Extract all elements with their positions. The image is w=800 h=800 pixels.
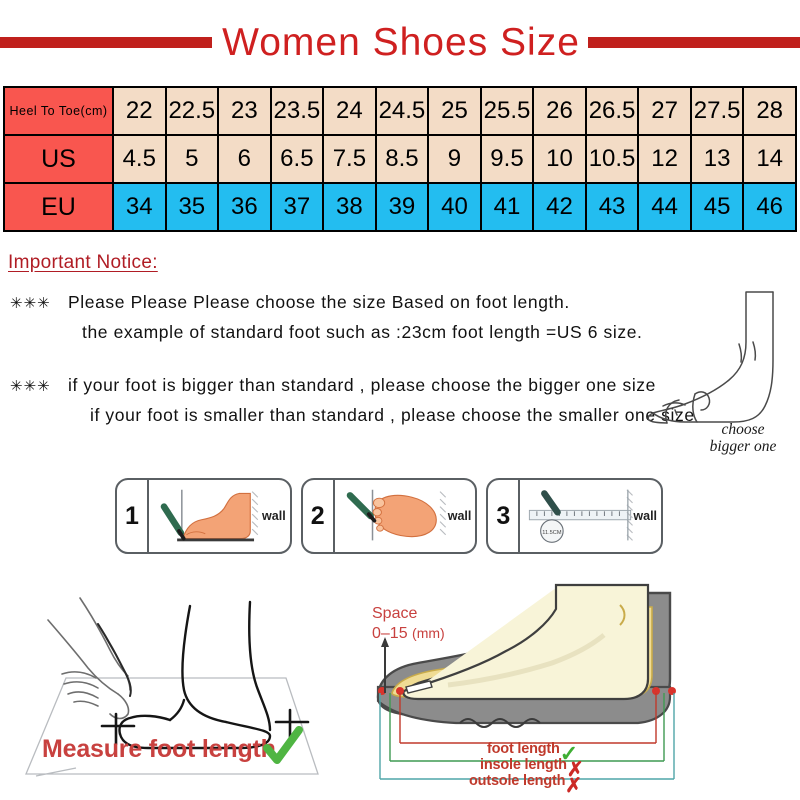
cell-eu-7: 41 <box>481 183 534 231</box>
space-unit: (mm) <box>412 625 445 641</box>
notice-row-1: ✳✳✳ Please Please Please choose the size… <box>10 292 643 313</box>
cell-eu-0: 34 <box>113 183 166 231</box>
title-rule-left <box>0 37 212 48</box>
notice-block-1: ✳✳✳ Please Please Please choose the size… <box>10 292 643 343</box>
step-number-1: 1 <box>117 480 149 552</box>
cell-cm-5: 24.5 <box>376 87 429 135</box>
page-title-bar: Women Shoes Size <box>0 18 800 66</box>
space-range: 0–15 <box>372 625 408 642</box>
dim-text-outsole: outsole length <box>469 773 565 789</box>
cell-eu-2: 36 <box>218 183 271 231</box>
choose-bigger-one-caption: choose bigger one <box>688 421 798 456</box>
asterisk-icon: ✳✳✳ <box>10 375 68 395</box>
row-label-us: US <box>4 135 113 183</box>
step-3-callout: 11.5CM <box>543 530 563 536</box>
wall-label-3: wall <box>633 509 657 523</box>
dimension-label-foot-length: foot length ✓ <box>487 741 560 757</box>
step-panel-1: 1 wall <box>115 478 292 554</box>
asterisk-icon: ✳✳✳ <box>10 292 68 312</box>
cell-eu-4: 38 <box>323 183 376 231</box>
cell-us-1: 5 <box>166 135 219 183</box>
cell-eu-9: 43 <box>586 183 639 231</box>
cell-us-12: 14 <box>743 135 796 183</box>
step-2-illustration: wall <box>335 480 476 552</box>
space-gap-label: Space 0–15 (mm) <box>372 604 445 644</box>
cell-cm-0: 22 <box>113 87 166 135</box>
notice-row-2: ✳✳✳ if your foot is bigger than standard… <box>10 375 695 396</box>
space-label-line-2: 0–15 (mm) <box>372 624 445 644</box>
cell-us-4: 7.5 <box>323 135 376 183</box>
notice-2-line-1: if your foot is bigger than standard , p… <box>68 375 656 396</box>
caption-line-1: choose <box>688 421 798 438</box>
cell-cm-3: 23.5 <box>271 87 324 135</box>
table-row-heel-to-toe: Heel To Toe(cm) 22 22.5 23 23.5 24 24.5 … <box>4 87 796 135</box>
cell-us-3: 6.5 <box>271 135 324 183</box>
cell-eu-6: 40 <box>428 183 481 231</box>
cell-cm-6: 25 <box>428 87 481 135</box>
cell-eu-11: 45 <box>691 183 744 231</box>
important-notice-heading: Important Notice: <box>8 252 158 274</box>
notice-1-line-2: the example of standard foot such as :23… <box>10 322 643 343</box>
green-check-icon <box>262 726 304 770</box>
dim-text-foot: foot length <box>487 741 560 757</box>
cell-us-6: 9 <box>428 135 481 183</box>
cell-us-9: 10.5 <box>586 135 639 183</box>
cell-eu-8: 42 <box>533 183 586 231</box>
step-3-illustration: 11.5CM wall <box>520 480 661 552</box>
cell-cm-9: 26.5 <box>586 87 639 135</box>
measure-foot-length-label: Measure foot length <box>42 735 276 764</box>
cell-cm-4: 24 <box>323 87 376 135</box>
step-panel-2: 2 wall <box>301 478 478 554</box>
cell-cm-12: 28 <box>743 87 796 135</box>
cross-icon: ✗ <box>565 773 582 798</box>
row-label-eu: EU <box>4 183 113 231</box>
cell-cm-11: 27.5 <box>691 87 744 135</box>
cell-us-7: 9.5 <box>481 135 534 183</box>
notice-block-2: ✳✳✳ if your foot is bigger than standard… <box>10 375 695 426</box>
cell-us-11: 13 <box>691 135 744 183</box>
measure-steps-panel: 1 wall 2 <box>115 478 663 554</box>
cell-us-5: 8.5 <box>376 135 429 183</box>
notice-2-line-2: if your foot is smaller than standard , … <box>10 405 695 426</box>
cell-eu-5: 39 <box>376 183 429 231</box>
wall-label-2: wall <box>448 509 472 523</box>
dimension-label-outsole-length: outsole length ✗ <box>469 773 565 789</box>
cell-us-2: 6 <box>218 135 271 183</box>
table-row-eu: EU 34 35 36 37 38 39 40 41 42 43 44 45 4… <box>4 183 796 231</box>
notice-1-line-1: Please Please Please choose the size Bas… <box>68 292 570 313</box>
dimension-label-insole-length: insole length ✗ <box>480 757 567 773</box>
cell-cm-10: 27 <box>638 87 691 135</box>
step-number-2: 2 <box>303 480 335 552</box>
size-chart-table: Heel To Toe(cm) 22 22.5 23 23.5 24 24.5 … <box>3 86 797 232</box>
dim-text-insole: insole length <box>480 757 567 773</box>
cell-us-8: 10 <box>533 135 586 183</box>
wall-label-1: wall <box>262 509 286 523</box>
page-title: Women Shoes Size <box>218 23 584 62</box>
caption-line-2: bigger one <box>688 438 798 455</box>
cell-eu-12: 46 <box>743 183 796 231</box>
step-panel-3: 3 11.5CM <box>486 478 663 554</box>
cell-us-10: 12 <box>638 135 691 183</box>
cell-eu-10: 44 <box>638 183 691 231</box>
size-chart-body: Heel To Toe(cm) 22 22.5 23 23.5 24 24.5 … <box>4 87 796 231</box>
cell-cm-7: 25.5 <box>481 87 534 135</box>
step-1-illustration: wall <box>149 480 290 552</box>
row-label-heel-to-toe: Heel To Toe(cm) <box>4 87 113 135</box>
table-row-us: US 4.5 5 6 6.5 7.5 8.5 9 9.5 10 10.5 12 … <box>4 135 796 183</box>
cell-eu-1: 35 <box>166 183 219 231</box>
space-label-line-1: Space <box>372 604 445 624</box>
cell-eu-3: 37 <box>271 183 324 231</box>
title-rule-right <box>588 37 800 48</box>
dim-dot-right-b <box>668 687 676 695</box>
cell-us-0: 4.5 <box>113 135 166 183</box>
step-number-3: 3 <box>488 480 520 552</box>
cell-cm-2: 23 <box>218 87 271 135</box>
cell-cm-1: 22.5 <box>166 87 219 135</box>
cell-cm-8: 26 <box>533 87 586 135</box>
